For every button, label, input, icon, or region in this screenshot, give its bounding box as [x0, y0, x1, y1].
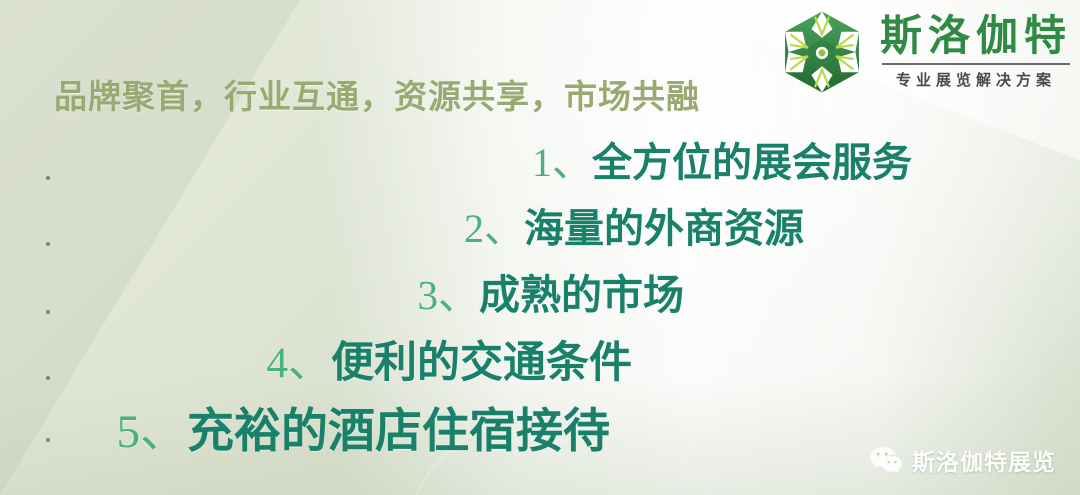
list-item: 4、便利的交通条件 [267, 342, 633, 385]
list-item-number: 4 [267, 340, 289, 387]
hexagon-logo-mark [778, 8, 866, 96]
feature-list: 1、全方位的展会服务 2、海量的外商资源 3、成熟的市场 4、便利的交通条件 5… [0, 143, 1052, 456]
list-item-number: 3 [418, 272, 439, 318]
list-item-number: 5 [117, 406, 141, 458]
list-item: 1、全方位的展会服务 [532, 143, 912, 183]
list-item-separator: 、 [140, 406, 187, 458]
list-item-separator: 、 [438, 272, 479, 318]
list-item-number: 2 [464, 206, 484, 251]
list-item-label: 海量的外商资源 [524, 206, 804, 251]
wechat-watermark: 斯洛伽特展览 [869, 443, 1056, 477]
list-item-label: 充裕的酒店住宿接待 [187, 406, 610, 458]
list-item-label: 便利的交通条件 [331, 340, 632, 387]
slide-headline: 品牌聚首，行业互通，资源共享，市场共融 [54, 70, 700, 118]
list-item: 5、充裕的酒店住宿接待 [117, 409, 611, 456]
list-item-separator: 、 [484, 206, 524, 251]
list-item-label: 成熟的市场 [479, 272, 684, 318]
wechat-icon [869, 445, 903, 475]
logo-text-column: 斯洛伽特 专业展览解决方案 [880, 14, 1072, 91]
slide-canvas: 斯洛伽特 专业展览解决方案 品牌聚首，行业互通，资源共享，市场共融 1、全方位的… [0, 0, 1080, 495]
list-item-number: 1 [532, 140, 552, 185]
list-item: 2、海量的外商资源 [464, 209, 804, 249]
logo-subtitle: 专业展览解决方案 [880, 69, 1072, 90]
list-item: 3、成熟的市场 [418, 275, 685, 316]
list-item-label: 全方位的展会服务 [592, 140, 912, 185]
list-item-separator: 、 [552, 140, 592, 185]
logo-brand-name: 斯洛伽特 [880, 16, 1072, 59]
wechat-account-name: 斯洛伽特展览 [912, 443, 1056, 477]
company-logo: 斯洛伽特 专业展览解决方案 [778, 8, 1072, 96]
logo-divider-rule [882, 63, 1070, 65]
list-item-separator: 、 [288, 340, 331, 387]
